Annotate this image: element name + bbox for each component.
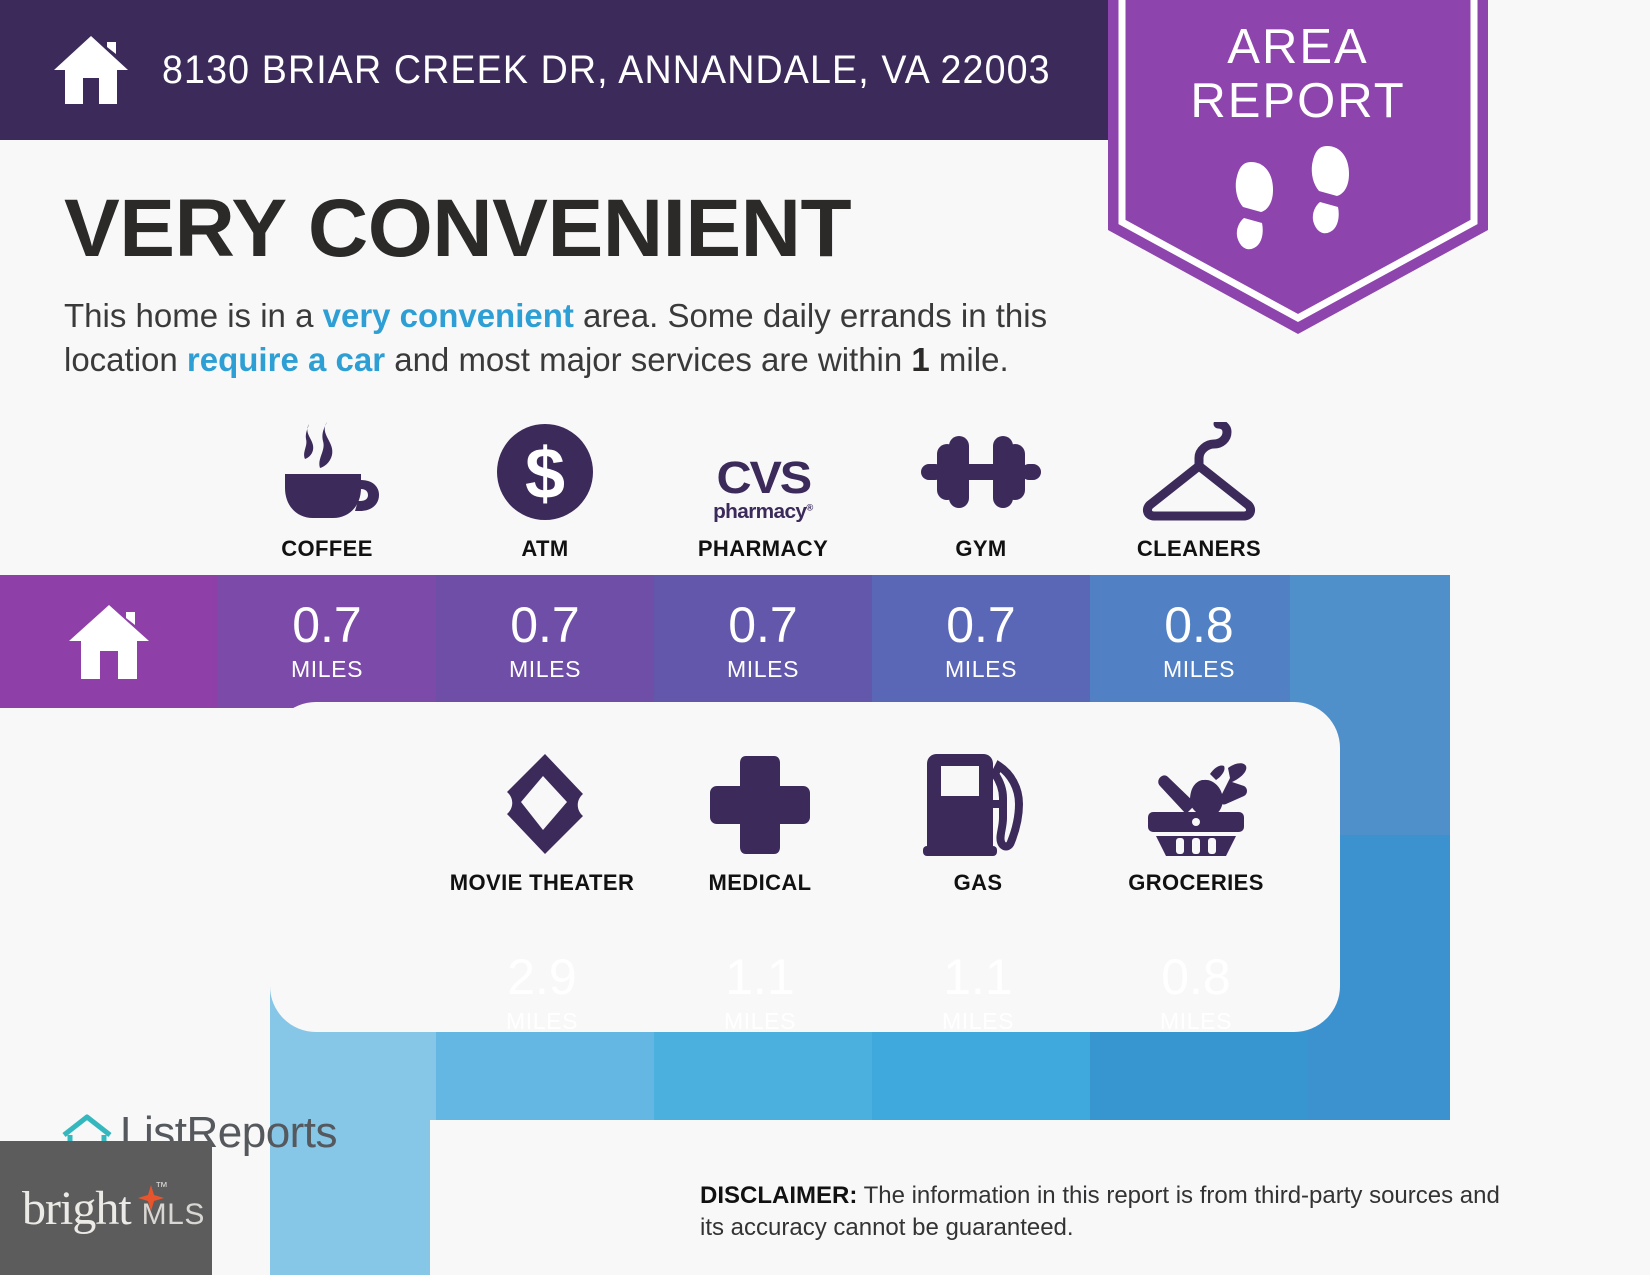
amenity-label: GAS (954, 870, 1003, 896)
coffee-cup-icon (275, 422, 379, 522)
home-icon (67, 603, 151, 681)
amenity-groceries: GROCERIES (1087, 752, 1305, 896)
amenity-label: GROCERIES (1128, 870, 1264, 896)
ticket-icon (487, 752, 597, 856)
distance-cell-gas: 1.1 MILES (869, 927, 1087, 1060)
distance-unit: MILES (942, 1008, 1014, 1035)
dollar-circle-icon: $ (495, 422, 595, 522)
badge-line-1: AREA (1227, 20, 1368, 74)
atm-icon-box: $ (495, 418, 595, 522)
amenity-coffee: COFFEE (218, 418, 436, 562)
amenity-gym: GYM (872, 418, 1090, 562)
cvs-pharmacy-text: pharmacy (713, 501, 806, 523)
home-icon (52, 34, 130, 106)
footprints-icon (1231, 144, 1365, 254)
desc-highlight-1: very convenient (323, 297, 574, 334)
distance-cell-coffee: 0.7 MILES (218, 575, 436, 708)
dumbbell-icon (921, 422, 1041, 522)
distance-row-2: 2.9 MILES 1.1 MILES 1.1 MILES 0.8 MILES (433, 927, 1305, 1060)
bright-mls-inner: bright MLS ™ (22, 1181, 205, 1236)
distance-row-1: 0.7 MILES 0.7 MILES 0.7 MILES 0.7 MILES … (0, 575, 1308, 708)
amenity-pharmacy: CVS pharmacy® PHARMACY (654, 418, 872, 562)
gas-pump-icon (923, 752, 1033, 856)
badge-line-2: REPORT (1190, 74, 1405, 128)
distance-value: 1.1 (725, 952, 795, 1002)
gas-icon-box (923, 752, 1033, 856)
distance-unit: MILES (727, 656, 799, 683)
cvs-wordmark: CVS (716, 455, 809, 500)
amenity-label: GYM (955, 536, 1006, 562)
movie-icon-box (487, 752, 597, 856)
hero-description: This home is in a very convenient area. … (64, 294, 1109, 382)
amenity-label: COFFEE (281, 536, 373, 562)
medical-cross-icon (710, 754, 810, 856)
desc-highlight-3: 1 (911, 341, 929, 378)
distance-value: 2.9 (507, 952, 577, 1002)
amenity-gas: GAS (869, 752, 1087, 896)
distance-cell-atm: 0.7 MILES (436, 575, 654, 708)
pharmacy-icon-box: CVS pharmacy® (715, 418, 811, 522)
groceries-icon-box (1140, 752, 1252, 856)
area-report-badge: AREA REPORT (1108, 0, 1488, 334)
distance-cell-movie-theater: 2.9 MILES (433, 927, 651, 1060)
distance-cell-cleaners: 0.8 MILES (1090, 575, 1308, 708)
bright-wordmark: bright (22, 1181, 131, 1236)
amenity-label: PHARMACY (698, 536, 828, 562)
distance-value: 0.7 (728, 600, 798, 650)
distance-unit: MILES (506, 1008, 578, 1035)
disclaimer: DISCLAIMER: The information in this repo… (700, 1180, 1520, 1244)
distance-cell-medical: 1.1 MILES (651, 927, 869, 1060)
area-report-page: 8130 BRIAR CREEK DR, ANNANDALE, VA 22003… (0, 0, 1650, 1275)
distance-unit: MILES (1163, 656, 1235, 683)
distance-cell-groceries: 0.8 MILES (1087, 927, 1305, 1060)
distance-cell-pharmacy: 0.7 MILES (654, 575, 872, 708)
amenity-cleaners: CLEANERS (1090, 418, 1308, 562)
cvs-pharmacy-logo: CVS pharmacy® (715, 455, 811, 522)
icon-row-2: MOVIE THEATER MEDICAL (433, 752, 1305, 896)
cleaners-icon-box (1139, 418, 1259, 522)
distance-unit: MILES (945, 656, 1017, 683)
amenity-atm: $ ATM (436, 418, 654, 562)
trademark-icon: ™ (155, 1179, 168, 1194)
icon-row-1: COFFEE $ ATM CVS pharmacy® PHARMACY (218, 418, 1308, 562)
property-address: 8130 BRIAR CREEK DR, ANNANDALE, VA 22003 (162, 48, 1051, 93)
desc-part-3: and most major services are within (385, 341, 911, 378)
distance-value: 1.1 (943, 952, 1013, 1002)
amenity-label: MEDICAL (708, 870, 811, 896)
amenity-label: CLEANERS (1137, 536, 1261, 562)
cvs-pharmacy-word: pharmacy® (713, 502, 813, 522)
distance-unit: MILES (724, 1008, 796, 1035)
distance-unit: MILES (509, 656, 581, 683)
medical-icon-box (710, 752, 810, 856)
distance-value: 0.7 (946, 600, 1016, 650)
header-bar: 8130 BRIAR CREEK DR, ANNANDALE, VA 22003 (0, 0, 1120, 140)
distance-value: 0.8 (1161, 952, 1231, 1002)
distance-value: 0.8 (1164, 600, 1234, 650)
grocery-basket-icon (1140, 752, 1252, 856)
amenity-movie-theater: MOVIE THEATER (433, 752, 651, 896)
home-marker-cell (0, 575, 218, 708)
bright-mls-watermark: bright MLS ™ (0, 1141, 212, 1275)
distance-unit: MILES (291, 656, 363, 683)
registered-mark: ® (807, 502, 813, 512)
page-title: VERY CONVENIENT (64, 186, 1145, 272)
badge-title: AREA REPORT (1108, 20, 1488, 128)
distance-unit: MILES (1160, 1008, 1232, 1035)
hero-section: VERY CONVENIENT This home is in a very c… (64, 186, 1124, 382)
amenity-label: ATM (521, 536, 568, 562)
desc-highlight-2: require a car (187, 341, 385, 378)
desc-part-1: This home is in a (64, 297, 323, 334)
svg-text:$: $ (525, 434, 565, 514)
distance-value: 0.7 (292, 600, 362, 650)
gym-icon-box (921, 418, 1041, 522)
amenity-label: MOVIE THEATER (450, 870, 634, 896)
desc-part-4: mile. (930, 341, 1009, 378)
amenity-medical: MEDICAL (651, 752, 869, 896)
distance-value: 0.7 (510, 600, 580, 650)
disclaimer-label: DISCLAIMER: (700, 1182, 857, 1209)
distance-cell-gym: 0.7 MILES (872, 575, 1090, 708)
hanger-icon (1139, 422, 1259, 522)
coffee-icon-box (275, 418, 379, 522)
